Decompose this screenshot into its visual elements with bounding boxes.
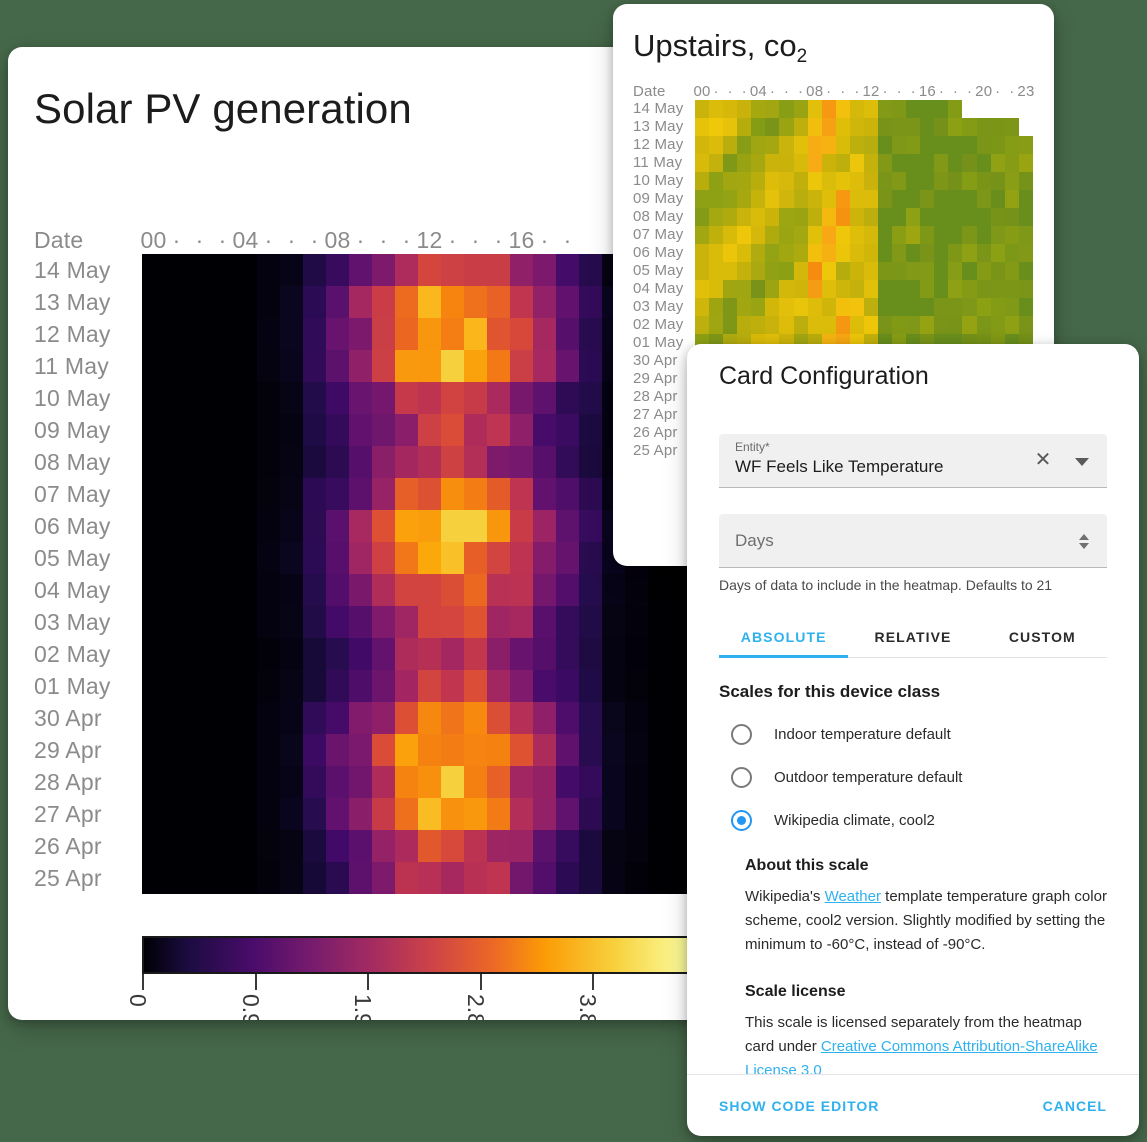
co2-heatmap-cell[interactable] [1019, 244, 1033, 262]
solar-heatmap-cell[interactable] [280, 606, 303, 638]
co2-heatmap-cell[interactable] [934, 226, 948, 244]
co2-heatmap-cell[interactable] [723, 280, 737, 298]
solar-heatmap-cell[interactable] [487, 414, 510, 446]
solar-heatmap-cell[interactable] [234, 542, 257, 574]
co2-heatmap-cell[interactable] [709, 136, 723, 154]
co2-heatmap-cell[interactable] [779, 280, 793, 298]
solar-heatmap-cell[interactable] [188, 574, 211, 606]
co2-heatmap-cell[interactable] [906, 190, 920, 208]
solar-heatmap-cell[interactable] [648, 606, 671, 638]
solar-heatmap-cell[interactable] [464, 606, 487, 638]
co2-heatmap-cell[interactable] [864, 316, 878, 334]
solar-heatmap-cell[interactable] [188, 414, 211, 446]
solar-heatmap-cell[interactable] [464, 350, 487, 382]
solar-heatmap-cell[interactable] [418, 638, 441, 670]
solar-heatmap-cell[interactable] [234, 254, 257, 286]
solar-heatmap-cell[interactable] [257, 446, 280, 478]
solar-heatmap-cell[interactable] [372, 446, 395, 478]
solar-heatmap-cell[interactable] [234, 830, 257, 862]
solar-heatmap-cell[interactable] [165, 670, 188, 702]
solar-heatmap-cell[interactable] [142, 798, 165, 830]
co2-heatmap-cell[interactable] [920, 172, 934, 190]
co2-heatmap-cell[interactable] [920, 262, 934, 280]
solar-heatmap-cell[interactable] [349, 286, 372, 318]
co2-heatmap-cell[interactable] [709, 280, 723, 298]
solar-heatmap-row[interactable] [142, 542, 694, 574]
solar-heatmap-cell[interactable] [579, 606, 602, 638]
solar-heatmap-cell[interactable] [602, 702, 625, 734]
co2-heatmap-cell[interactable] [709, 226, 723, 244]
solar-heatmap-cell[interactable] [487, 574, 510, 606]
co2-heatmap-cell[interactable] [977, 298, 991, 316]
solar-heatmap-cell[interactable] [234, 350, 257, 382]
solar-heatmap-cell[interactable] [395, 862, 418, 894]
solar-heatmap-cell[interactable] [165, 798, 188, 830]
solar-heatmap-cell[interactable] [464, 574, 487, 606]
co2-heatmap-cell[interactable] [850, 190, 864, 208]
co2-heatmap-cell[interactable] [1005, 316, 1019, 334]
solar-heatmap-cell[interactable] [372, 766, 395, 798]
co2-heatmap-cell[interactable] [751, 208, 765, 226]
co2-heatmap-cell[interactable] [765, 172, 779, 190]
co2-heatmap-cell[interactable] [906, 244, 920, 262]
solar-heatmap-cell[interactable] [211, 510, 234, 542]
co2-heatmap-cell[interactable] [934, 118, 948, 136]
co2-heatmap-cell[interactable] [723, 208, 737, 226]
co2-heatmap-cell[interactable] [794, 298, 808, 316]
co2-heatmap-cell[interactable] [709, 118, 723, 136]
co2-heatmap-cell[interactable] [892, 190, 906, 208]
solar-heatmap-cell[interactable] [349, 382, 372, 414]
solar-heatmap-cell[interactable] [579, 862, 602, 894]
solar-heatmap-cell[interactable] [579, 766, 602, 798]
co2-heatmap-cell[interactable] [892, 316, 906, 334]
solar-heatmap-cell[interactable] [464, 670, 487, 702]
solar-heatmap-cell[interactable] [372, 638, 395, 670]
co2-heatmap-cell[interactable] [751, 154, 765, 172]
scale-options-group[interactable]: Indoor temperature defaultOutdoor temper… [719, 724, 1107, 831]
co2-heatmap-cell[interactable] [751, 100, 765, 118]
co2-heatmap-cell[interactable] [765, 316, 779, 334]
solar-heatmap-cell[interactable] [280, 478, 303, 510]
solar-heatmap-cell[interactable] [257, 286, 280, 318]
co2-heatmap-cell[interactable] [991, 172, 1005, 190]
co2-heatmap-cell[interactable] [991, 136, 1005, 154]
co2-heatmap-cell[interactable] [751, 298, 765, 316]
co2-heatmap-cell[interactable] [765, 298, 779, 316]
co2-heatmap-cell[interactable] [695, 280, 709, 298]
solar-heatmap-cell[interactable] [372, 254, 395, 286]
solar-heatmap-cell[interactable] [487, 670, 510, 702]
solar-heatmap-cell[interactable] [211, 286, 234, 318]
solar-heatmap-cell[interactable] [395, 382, 418, 414]
solar-heatmap-cell[interactable] [441, 382, 464, 414]
solar-heatmap-cell[interactable] [418, 382, 441, 414]
co2-heatmap-cell[interactable] [906, 298, 920, 316]
co2-heatmap-cell[interactable] [836, 100, 850, 118]
co2-heatmap-cell[interactable] [934, 154, 948, 172]
co2-heatmap-cell[interactable] [977, 100, 991, 118]
solar-heatmap-cell[interactable] [395, 414, 418, 446]
solar-heatmap-cell[interactable] [165, 766, 188, 798]
solar-heatmap-cell[interactable] [280, 830, 303, 862]
solar-heatmap-cell[interactable] [648, 830, 671, 862]
co2-heatmap-cell[interactable] [977, 190, 991, 208]
co2-heatmap-cell[interactable] [794, 154, 808, 172]
spinner-down-icon[interactable] [1079, 543, 1089, 549]
spinner-up-icon[interactable] [1079, 534, 1089, 540]
co2-heatmap-cell[interactable] [1019, 154, 1033, 172]
co2-heatmap-cell[interactable] [737, 298, 751, 316]
solar-heatmap-cell[interactable] [464, 734, 487, 766]
solar-heatmap-cell[interactable] [579, 286, 602, 318]
solar-heatmap-cell[interactable] [464, 766, 487, 798]
solar-heatmap-cell[interactable] [395, 702, 418, 734]
co2-heatmap-cell[interactable] [850, 172, 864, 190]
solar-heatmap-cell[interactable] [303, 830, 326, 862]
solar-heatmap-cell[interactable] [280, 670, 303, 702]
solar-heatmap-cell[interactable] [648, 862, 671, 894]
solar-heatmap-cell[interactable] [142, 862, 165, 894]
solar-heatmap-cell[interactable] [556, 510, 579, 542]
solar-heatmap-cell[interactable] [372, 574, 395, 606]
solar-heatmap-cell[interactable] [234, 862, 257, 894]
solar-heatmap-cell[interactable] [280, 542, 303, 574]
co2-heatmap-cell[interactable] [737, 100, 751, 118]
solar-heatmap-cell[interactable] [280, 734, 303, 766]
solar-heatmap-cell[interactable] [418, 350, 441, 382]
co2-heatmap-cell[interactable] [1019, 136, 1033, 154]
solar-heatmap-cell[interactable] [533, 382, 556, 414]
solar-heatmap-cell[interactable] [165, 414, 188, 446]
solar-heatmap-cell[interactable] [441, 638, 464, 670]
solar-heatmap-cell[interactable] [326, 286, 349, 318]
co2-heatmap-cell[interactable] [808, 280, 822, 298]
solar-heatmap-cell[interactable] [257, 766, 280, 798]
co2-heatmap-cell[interactable] [695, 136, 709, 154]
solar-heatmap-cell[interactable] [556, 798, 579, 830]
solar-heatmap-cell[interactable] [556, 446, 579, 478]
co2-heatmap-cell[interactable] [822, 262, 836, 280]
co2-heatmap-cell[interactable] [779, 136, 793, 154]
co2-heatmap-cell[interactable] [850, 298, 864, 316]
solar-heatmap-cell[interactable] [280, 286, 303, 318]
co2-heatmap-cell[interactable] [1019, 298, 1033, 316]
solar-heatmap-cell[interactable] [510, 574, 533, 606]
solar-heatmap-row[interactable] [142, 414, 694, 446]
co2-heatmap-cell[interactable] [737, 244, 751, 262]
co2-heatmap-cell[interactable] [864, 226, 878, 244]
solar-heatmap-cell[interactable] [533, 862, 556, 894]
co2-heatmap-cell[interactable] [892, 226, 906, 244]
co2-heatmap-cell[interactable] [878, 316, 892, 334]
co2-heatmap-cell[interactable] [892, 262, 906, 280]
solar-heatmap-cell[interactable] [441, 350, 464, 382]
co2-heatmap-cell[interactable] [977, 172, 991, 190]
co2-heatmap-cell[interactable] [1005, 298, 1019, 316]
solar-heatmap-cell[interactable] [349, 478, 372, 510]
solar-heatmap-cell[interactable] [510, 350, 533, 382]
solar-heatmap-cell[interactable] [349, 542, 372, 574]
solar-heatmap-cell[interactable] [188, 286, 211, 318]
co2-heatmap-cell[interactable] [709, 172, 723, 190]
solar-heatmap-cell[interactable] [395, 446, 418, 478]
solar-heatmap-cell[interactable] [303, 670, 326, 702]
solar-heatmap-cell[interactable] [142, 350, 165, 382]
co2-heatmap-cell[interactable] [991, 118, 1005, 136]
solar-heatmap-cell[interactable] [487, 734, 510, 766]
co2-heatmap-cell[interactable] [1005, 136, 1019, 154]
co2-heatmap-cell[interactable] [779, 262, 793, 280]
solar-heatmap-cell[interactable] [625, 670, 648, 702]
solar-heatmap-cell[interactable] [556, 382, 579, 414]
solar-heatmap-cell[interactable] [142, 542, 165, 574]
co2-heatmap-cell[interactable] [822, 172, 836, 190]
solar-heatmap-cell[interactable] [165, 350, 188, 382]
co2-heatmap-cell[interactable] [765, 280, 779, 298]
co2-heatmap-cell[interactable] [723, 298, 737, 316]
co2-heatmap-cell[interactable] [822, 298, 836, 316]
solar-heatmap-cell[interactable] [188, 734, 211, 766]
co2-heatmap-cell[interactable] [723, 244, 737, 262]
solar-heatmap-cell[interactable] [648, 670, 671, 702]
solar-heatmap-cell[interactable] [257, 638, 280, 670]
solar-heatmap-cell[interactable] [579, 254, 602, 286]
co2-heatmap-cell[interactable] [892, 100, 906, 118]
co2-heatmap-row[interactable] [695, 298, 1033, 316]
solar-heatmap-row[interactable] [142, 286, 694, 318]
solar-heatmap-cell[interactable] [533, 638, 556, 670]
solar-heatmap-cell[interactable] [441, 542, 464, 574]
co2-heatmap-cell[interactable] [892, 280, 906, 298]
solar-heatmap-cell[interactable] [648, 798, 671, 830]
co2-heatmap-cell[interactable] [850, 226, 864, 244]
co2-heatmap-cell[interactable] [737, 262, 751, 280]
solar-heatmap-cell[interactable] [372, 318, 395, 350]
solar-heatmap-cell[interactable] [349, 798, 372, 830]
solar-heatmap-cell[interactable] [188, 478, 211, 510]
solar-heatmap-cell[interactable] [280, 862, 303, 894]
solar-heatmap-cell[interactable] [556, 734, 579, 766]
solar-heatmap-cell[interactable] [188, 606, 211, 638]
co2-heatmap-cell[interactable] [864, 136, 878, 154]
co2-heatmap-cell[interactable] [906, 208, 920, 226]
solar-heatmap-cell[interactable] [510, 670, 533, 702]
solar-heatmap-row[interactable] [142, 702, 694, 734]
solar-heatmap-cell[interactable] [326, 542, 349, 574]
solar-heatmap-cell[interactable] [625, 638, 648, 670]
co2-heatmap-cell[interactable] [723, 226, 737, 244]
solar-heatmap-cell[interactable] [257, 862, 280, 894]
co2-heatmap-cell[interactable] [836, 316, 850, 334]
solar-heatmap-cell[interactable] [142, 830, 165, 862]
co2-heatmap-cell[interactable] [709, 190, 723, 208]
solar-heatmap-cell[interactable] [533, 350, 556, 382]
solar-heatmap-cell[interactable] [487, 254, 510, 286]
co2-heatmap-cell[interactable] [737, 190, 751, 208]
co2-heatmap-cell[interactable] [991, 154, 1005, 172]
co2-heatmap-cell[interactable] [1019, 190, 1033, 208]
co2-heatmap-cell[interactable] [962, 118, 976, 136]
solar-heatmap-cell[interactable] [556, 286, 579, 318]
co2-heatmap-cell[interactable] [808, 154, 822, 172]
co2-heatmap-cell[interactable] [948, 298, 962, 316]
solar-heatmap-cell[interactable] [280, 638, 303, 670]
solar-heatmap-cell[interactable] [602, 734, 625, 766]
co2-heatmap-row[interactable] [695, 136, 1033, 154]
solar-heatmap-cell[interactable] [510, 254, 533, 286]
tab-relative[interactable]: RELATIVE [848, 619, 977, 657]
solar-heatmap-cell[interactable] [648, 734, 671, 766]
co2-heatmap-cell[interactable] [751, 118, 765, 136]
solar-heatmap-cell[interactable] [257, 798, 280, 830]
co2-heatmap-cell[interactable] [822, 208, 836, 226]
co2-heatmap-row[interactable] [695, 262, 1033, 280]
solar-heatmap-cell[interactable] [579, 350, 602, 382]
co2-heatmap-cell[interactable] [836, 190, 850, 208]
solar-heatmap-cell[interactable] [280, 798, 303, 830]
solar-heatmap-cell[interactable] [510, 638, 533, 670]
co2-heatmap-row[interactable] [695, 154, 1033, 172]
co2-heatmap-cell[interactable] [836, 172, 850, 190]
co2-heatmap-cell[interactable] [934, 172, 948, 190]
co2-heatmap-cell[interactable] [934, 280, 948, 298]
solar-heatmap-cell[interactable] [349, 574, 372, 606]
solar-heatmap-cell[interactable] [188, 798, 211, 830]
co2-heatmap-cell[interactable] [878, 262, 892, 280]
co2-heatmap-row[interactable] [695, 226, 1033, 244]
co2-heatmap-cell[interactable] [822, 280, 836, 298]
co2-heatmap-cell[interactable] [864, 244, 878, 262]
co2-heatmap-cell[interactable] [836, 154, 850, 172]
solar-heatmap-cell[interactable] [349, 638, 372, 670]
solar-heatmap-cell[interactable] [556, 478, 579, 510]
co2-heatmap-cell[interactable] [765, 244, 779, 262]
solar-heatmap-cell[interactable] [142, 446, 165, 478]
solar-heatmap-cell[interactable] [303, 862, 326, 894]
co2-heatmap-cell[interactable] [808, 172, 822, 190]
solar-heatmap-cell[interactable] [372, 734, 395, 766]
solar-heatmap-cell[interactable] [395, 670, 418, 702]
solar-heatmap-cell[interactable] [464, 702, 487, 734]
solar-heatmap-cell[interactable] [510, 766, 533, 798]
solar-heatmap-cell[interactable] [441, 478, 464, 510]
co2-heatmap-cell[interactable] [822, 316, 836, 334]
solar-heatmap-cell[interactable] [510, 286, 533, 318]
solar-heatmap-cell[interactable] [418, 542, 441, 574]
solar-heatmap-cell[interactable] [303, 510, 326, 542]
solar-heatmap-cell[interactable] [142, 254, 165, 286]
co2-heatmap-cell[interactable] [934, 208, 948, 226]
co2-heatmap-cell[interactable] [920, 100, 934, 118]
solar-heatmap-cell[interactable] [648, 702, 671, 734]
co2-heatmap-cell[interactable] [1019, 316, 1033, 334]
solar-heatmap-cell[interactable] [303, 734, 326, 766]
solar-heatmap-cell[interactable] [303, 254, 326, 286]
co2-heatmap-row[interactable] [695, 118, 1033, 136]
co2-heatmap-cell[interactable] [822, 190, 836, 208]
co2-heatmap-cell[interactable] [794, 208, 808, 226]
co2-heatmap-cell[interactable] [878, 280, 892, 298]
co2-heatmap-cell[interactable] [878, 100, 892, 118]
co2-heatmap-cell[interactable] [948, 316, 962, 334]
solar-heatmap-cell[interactable] [418, 606, 441, 638]
solar-heatmap-cell[interactable] [234, 318, 257, 350]
solar-heatmap-cell[interactable] [142, 734, 165, 766]
solar-heatmap-row[interactable] [142, 510, 694, 542]
solar-heatmap-cell[interactable] [418, 318, 441, 350]
co2-heatmap-cell[interactable] [948, 100, 962, 118]
solar-heatmap-cell[interactable] [349, 446, 372, 478]
co2-heatmap-cell[interactable] [878, 118, 892, 136]
solar-heatmap-cell[interactable] [303, 382, 326, 414]
solar-heatmap-cell[interactable] [326, 510, 349, 542]
solar-heatmap-cell[interactable] [142, 766, 165, 798]
solar-heatmap-cell[interactable] [234, 670, 257, 702]
co2-heatmap-cell[interactable] [934, 100, 948, 118]
co2-heatmap-cell[interactable] [751, 244, 765, 262]
solar-heatmap-cell[interactable] [188, 510, 211, 542]
solar-heatmap-cell[interactable] [303, 574, 326, 606]
co2-heatmap-cell[interactable] [977, 154, 991, 172]
co2-heatmap-cell[interactable] [794, 280, 808, 298]
solar-heatmap-cell[interactable] [142, 382, 165, 414]
radio-icon[interactable] [731, 724, 752, 745]
co2-heatmap-cell[interactable] [1005, 118, 1019, 136]
co2-heatmap-cell[interactable] [836, 118, 850, 136]
solar-heatmap-cell[interactable] [257, 254, 280, 286]
solar-heatmap-cell[interactable] [372, 414, 395, 446]
solar-heatmap-cell[interactable] [211, 830, 234, 862]
co2-heatmap-cell[interactable] [991, 208, 1005, 226]
solar-heatmap-cell[interactable] [579, 414, 602, 446]
solar-heatmap-row[interactable] [142, 830, 694, 862]
solar-heatmap-cell[interactable] [188, 638, 211, 670]
co2-heatmap-cell[interactable] [962, 226, 976, 244]
solar-heatmap-cell[interactable] [372, 286, 395, 318]
co2-heatmap-cell[interactable] [892, 154, 906, 172]
co2-heatmap-cell[interactable] [709, 208, 723, 226]
co2-heatmap-cell[interactable] [1005, 190, 1019, 208]
co2-heatmap-cell[interactable] [892, 298, 906, 316]
solar-heatmap-cell[interactable] [234, 286, 257, 318]
co2-heatmap-cell[interactable] [991, 262, 1005, 280]
co2-heatmap-row[interactable] [695, 208, 1033, 226]
solar-heatmap-cell[interactable] [372, 670, 395, 702]
solar-heatmap-row[interactable] [142, 798, 694, 830]
solar-heatmap-cell[interactable] [395, 638, 418, 670]
solar-heatmap-cell[interactable] [165, 510, 188, 542]
solar-heatmap-row[interactable] [142, 318, 694, 350]
solar-heatmap-row[interactable] [142, 350, 694, 382]
co2-heatmap-cell[interactable] [794, 190, 808, 208]
solar-heatmap-cell[interactable] [326, 734, 349, 766]
solar-heatmap-cell[interactable] [556, 350, 579, 382]
solar-heatmap-cell[interactable] [188, 446, 211, 478]
solar-heatmap-cell[interactable] [280, 414, 303, 446]
solar-heatmap-cell[interactable] [441, 766, 464, 798]
solar-heatmap-cell[interactable] [579, 670, 602, 702]
co2-heatmap-cell[interactable] [864, 172, 878, 190]
co2-heatmap-cell[interactable] [1005, 154, 1019, 172]
co2-heatmap-cell[interactable] [794, 118, 808, 136]
solar-heatmap-cell[interactable] [372, 542, 395, 574]
solar-heatmap-cell[interactable] [257, 478, 280, 510]
solar-heatmap-cell[interactable] [165, 574, 188, 606]
co2-heatmap-cell[interactable] [1005, 208, 1019, 226]
co2-heatmap-cell[interactable] [878, 172, 892, 190]
co2-heatmap-cell[interactable] [864, 100, 878, 118]
